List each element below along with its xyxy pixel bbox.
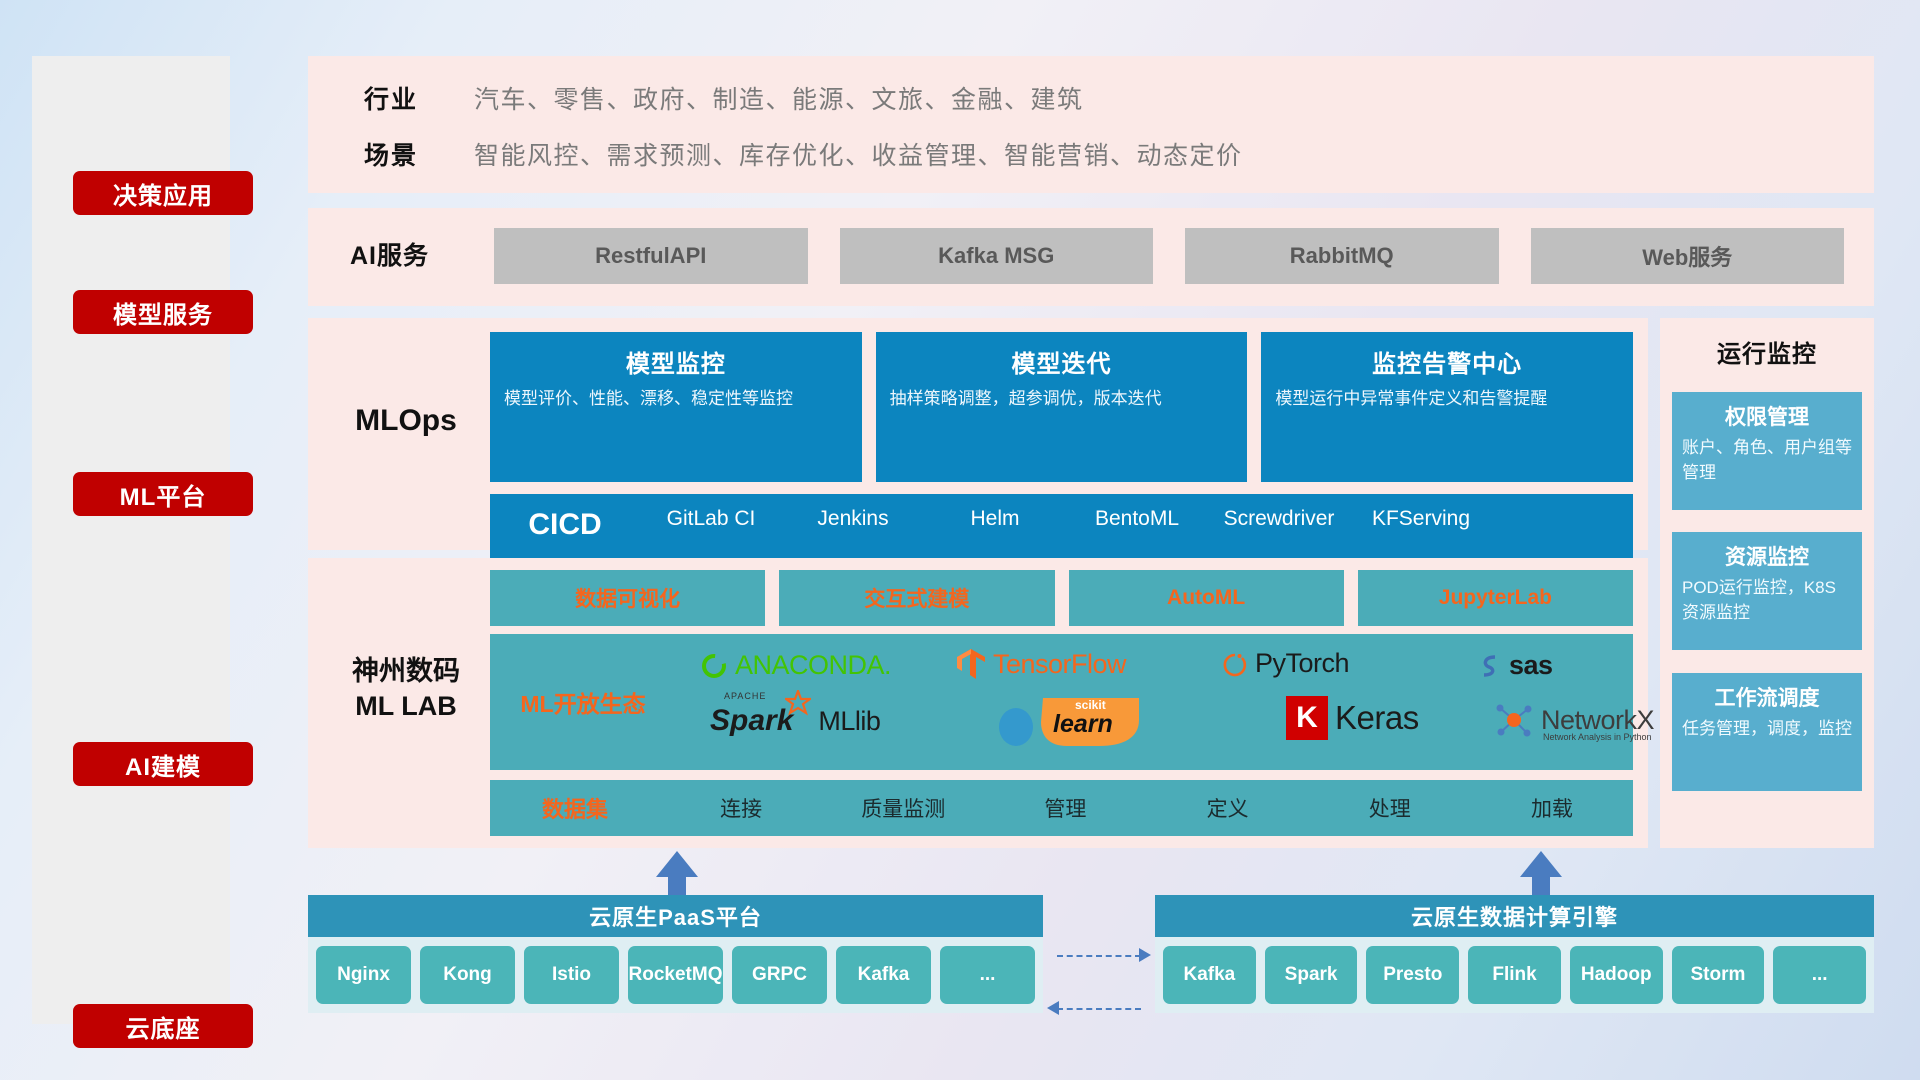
dataset-item[interactable]: 管理: [984, 793, 1146, 823]
mlops-card-desc: 抽样策略调整，超参调优，版本迭代: [890, 387, 1234, 412]
scikit-learn-logo: scikit learn: [996, 696, 1145, 753]
cloud-data-engine-chip[interactable]: Spark: [1265, 946, 1358, 1004]
monitor-card-title: 权限管理: [1682, 401, 1852, 431]
cloud-paas-chip[interactable]: GRPC: [732, 946, 827, 1004]
rail-tag-label: ML平台: [120, 477, 207, 512]
layer-rail: 决策应用 模型服务 ML平台 AI建模 云底座: [32, 56, 230, 1024]
mlops-label: MLOps: [336, 404, 476, 438]
scikit-learn-orange-blob: scikit learn: [1037, 696, 1145, 753]
cicd-item[interactable]: Screwdriver: [1208, 504, 1350, 534]
pytorch-mark-icon: [1222, 649, 1248, 679]
scenario-value: 智能风控、需求预测、库存优化、收益管理、智能营销、动态定价: [474, 136, 1243, 172]
tensorflow-logo: TensorFlow: [956, 648, 1126, 680]
mlops-card-row: 模型监控 模型评价、性能、漂移、稳定性等监控 模型迭代 抽样策略调整，超参调优，…: [490, 332, 1633, 482]
ai-service-chip[interactable]: Web服务: [1531, 228, 1845, 284]
modeling-tool-chip[interactable]: AutoML: [1069, 570, 1344, 626]
dashed-connector-right-icon: [1057, 955, 1141, 957]
spark-mllib-logo: APACHE Spark MLlib: [710, 704, 880, 738]
rail-tag-ml-platform[interactable]: ML平台: [73, 472, 253, 516]
ml-lab-label-line1: 神州数码: [326, 654, 486, 689]
pytorch-wordmark: PyTorch: [1255, 648, 1349, 679]
mlops-card-title: 模型监控: [504, 344, 848, 379]
industry-value: 汽车、零售、政府、制造、能源、文旅、金融、建筑: [474, 80, 1084, 116]
cicd-item[interactable]: GitLab CI: [640, 504, 782, 534]
keras-wordmark: Keras: [1335, 699, 1419, 737]
anaconda-mark-icon: [700, 652, 728, 680]
cloud-data-engine-chip-row: Kafka Spark Presto Flink Hadoop Storm ..…: [1155, 937, 1874, 1013]
dataset-band: 数据集 连接 质量监测 管理 定义 处理 加载: [490, 780, 1633, 836]
scenario-row: 场景 智能风控、需求预测、库存优化、收益管理、智能营销、动态定价: [364, 136, 1243, 172]
ai-service-label: AI服务: [350, 236, 429, 272]
mlops-card[interactable]: 模型迭代 抽样策略调整，超参调优，版本迭代: [876, 332, 1248, 482]
networkx-wordmark-wrap: NetworkX Network Analysis in Python: [1541, 705, 1654, 736]
ai-service-chip[interactable]: RabbitMQ: [1185, 228, 1499, 284]
monitor-card-workflow[interactable]: 工作流调度 任务管理，调度，监控: [1672, 673, 1862, 791]
rail-tag-decision-apps[interactable]: 决策应用: [73, 171, 253, 215]
sas-mark-icon: [1476, 652, 1502, 680]
monitor-card-desc: 任务管理，调度，监控: [1682, 717, 1852, 742]
anaconda-logo: ANACONDA.: [700, 650, 891, 681]
mlops-card[interactable]: 监控告警中心 模型运行中异常事件定义和告警提醒: [1261, 332, 1633, 482]
industry-label: 行业: [364, 80, 474, 116]
keras-logo: K Keras: [1286, 696, 1419, 740]
monitor-card-title: 资源监控: [1682, 541, 1852, 571]
scenario-label: 场景: [364, 136, 474, 172]
dashed-arrow-head-left-icon: [1047, 1001, 1059, 1015]
tensorflow-mark-icon: [956, 648, 986, 680]
mlops-card[interactable]: 模型监控 模型评价、性能、漂移、稳定性等监控: [490, 332, 862, 482]
spark-wordmark: Spark: [710, 704, 793, 737]
ai-service-chip-row: RestfulAPI Kafka MSG RabbitMQ Web服务: [494, 228, 1844, 284]
ml-ecosystem-label: ML开放生态: [490, 685, 676, 719]
ai-modeling-panel: 神州数码 ML LAB 数据可视化 交互式建模 AutoML JupyterLa…: [308, 558, 1648, 848]
cicd-item[interactable]: Helm: [924, 504, 1066, 534]
cloud-paas-chip[interactable]: ...: [940, 946, 1035, 1004]
ml-ecosystem-band: ML开放生态 ANACONDA. TensorFlow: [490, 634, 1633, 770]
industry-row: 行业 汽车、零售、政府、制造、能源、文旅、金融、建筑: [364, 80, 1084, 116]
modeling-tool-chip[interactable]: 交互式建模: [779, 570, 1054, 626]
cicd-item[interactable]: Jenkins: [782, 504, 924, 534]
cloud-data-engine-chip[interactable]: ...: [1773, 946, 1866, 1004]
architecture-diagram: 决策应用 模型服务 ML平台 AI建模 云底座 行业 汽车、零售、政府、制造、能…: [0, 0, 1920, 1080]
monitor-card-permission[interactable]: 权限管理 账户、角色、用户组等管理: [1672, 392, 1862, 510]
rail-tag-label: 云底座: [126, 1009, 201, 1044]
cloud-paas-title: 云原生PaaS平台: [308, 895, 1043, 937]
cloud-data-engine-group: 云原生数据计算引擎 Kafka Spark Presto Flink Hadoo…: [1155, 895, 1874, 1013]
rail-tag-model-service[interactable]: 模型服务: [73, 290, 253, 334]
mlops-card-title: 监控告警中心: [1275, 344, 1619, 379]
rail-tag-label: AI建模: [125, 747, 201, 782]
modeling-tool-row: 数据可视化 交互式建模 AutoML JupyterLab: [490, 570, 1633, 626]
spark-apache-text: APACHE: [724, 691, 766, 701]
cicd-bar: CICD GitLab CI Jenkins Helm BentoML Scre…: [490, 494, 1633, 568]
networkx-tagline: Network Analysis in Python: [1543, 732, 1652, 742]
cloud-paas-chip[interactable]: Kafka: [836, 946, 931, 1004]
cicd-item[interactable]: BentoML: [1066, 504, 1208, 534]
rail-tag-ai-modeling[interactable]: AI建模: [73, 742, 253, 786]
networkx-wordmark: NetworkX: [1541, 705, 1654, 735]
rail-tag-label: 决策应用: [113, 176, 213, 211]
mlops-panel: MLOps 模型监控 模型评价、性能、漂移、稳定性等监控 模型迭代 抽样策略调整…: [308, 318, 1648, 550]
scikit-learn-blue-blob-icon: [996, 701, 1040, 749]
cloud-data-engine-chip[interactable]: Flink: [1468, 946, 1561, 1004]
mllib-wordmark: MLlib: [818, 706, 880, 737]
cloud-paas-chip-row: Nginx Kong Istio RocketMQ GRPC Kafka ...: [308, 937, 1043, 1013]
cloud-paas-chip[interactable]: Istio: [524, 946, 619, 1004]
cloud-data-engine-title: 云原生数据计算引擎: [1155, 895, 1874, 937]
monitor-card-resource[interactable]: 资源监控 POD运行监控，K8S资源监控: [1672, 532, 1862, 650]
keras-mark-icon: K: [1286, 696, 1328, 740]
ai-service-chip[interactable]: Kafka MSG: [840, 228, 1154, 284]
dataset-label: 数据集: [490, 792, 660, 824]
cloud-data-engine-chip[interactable]: Hadoop: [1570, 946, 1663, 1004]
cloud-paas-chip[interactable]: Nginx: [316, 946, 411, 1004]
networkx-logo: NetworkX Network Analysis in Python: [1494, 700, 1654, 740]
dashed-arrow-head-right-icon: [1139, 948, 1151, 962]
dataset-item[interactable]: 加载: [1471, 793, 1633, 823]
learn-word: learn: [1053, 710, 1113, 739]
mlops-card-desc: 模型评价、性能、漂移、稳定性等监控: [504, 387, 848, 412]
dataset-item[interactable]: 处理: [1309, 793, 1471, 823]
monitor-card-desc: 账户、角色、用户组等管理: [1682, 436, 1852, 485]
cloud-data-engine-chip[interactable]: Kafka: [1163, 946, 1256, 1004]
dataset-item[interactable]: 连接: [660, 793, 822, 823]
runtime-monitoring-title: 运行监控: [1660, 334, 1874, 369]
cloud-data-engine-chip[interactable]: Presto: [1366, 946, 1459, 1004]
dataset-item[interactable]: 定义: [1147, 793, 1309, 823]
decision-apps-panel: 行业 汽车、零售、政府、制造、能源、文旅、金融、建筑 场景 智能风控、需求预测、…: [308, 56, 1874, 193]
sas-wordmark: sas: [1509, 650, 1553, 681]
mlops-card-desc: 模型运行中异常事件定义和告警提醒: [1275, 387, 1619, 412]
networkx-graph-icon: [1494, 700, 1534, 740]
spark-wordmark-wrap: APACHE Spark: [710, 704, 793, 738]
monitor-card-desc: POD运行监控，K8S资源监控: [1682, 576, 1852, 625]
sas-logo: sas: [1476, 650, 1553, 681]
spark-star-icon: [785, 690, 811, 716]
cloud-data-engine-chip[interactable]: Storm: [1672, 946, 1765, 1004]
ai-service-panel: AI服务 RestfulAPI Kafka MSG RabbitMQ Web服务: [308, 208, 1874, 306]
rail-tag-cloud-foundation[interactable]: 云底座: [73, 1004, 253, 1048]
modeling-tool-chip[interactable]: JupyterLab: [1358, 570, 1633, 626]
cloud-paas-group: 云原生PaaS平台 Nginx Kong Istio RocketMQ GRPC…: [308, 895, 1043, 1013]
anaconda-wordmark: ANACONDA.: [735, 650, 891, 681]
monitor-card-title: 工作流调度: [1682, 682, 1852, 712]
ml-lab-label-line2: ML LAB: [326, 689, 486, 724]
ai-service-chip[interactable]: RestfulAPI: [494, 228, 808, 284]
cicd-title: CICD: [490, 504, 640, 542]
pytorch-logo: PyTorch: [1222, 648, 1349, 679]
tensorflow-wordmark: TensorFlow: [993, 649, 1126, 680]
mlops-card-title: 模型迭代: [890, 344, 1234, 379]
runtime-monitoring-panel: 运行监控 权限管理 账户、角色、用户组等管理 资源监控 POD运行监控，K8S资…: [1660, 318, 1874, 848]
ecosystem-logo-grid: ANACONDA. TensorFlow PyTorch: [676, 634, 1633, 770]
modeling-tool-chip[interactable]: 数据可视化: [490, 570, 765, 626]
cloud-paas-chip[interactable]: RocketMQ: [628, 946, 723, 1004]
dashed-connector-left-icon: [1057, 1008, 1141, 1010]
cicd-item[interactable]: KFServing: [1350, 504, 1492, 534]
rail-tag-label: 模型服务: [113, 295, 213, 330]
ml-lab-label: 神州数码 ML LAB: [326, 654, 486, 723]
cloud-paas-chip[interactable]: Kong: [420, 946, 515, 1004]
dataset-item[interactable]: 质量监测: [822, 793, 984, 823]
